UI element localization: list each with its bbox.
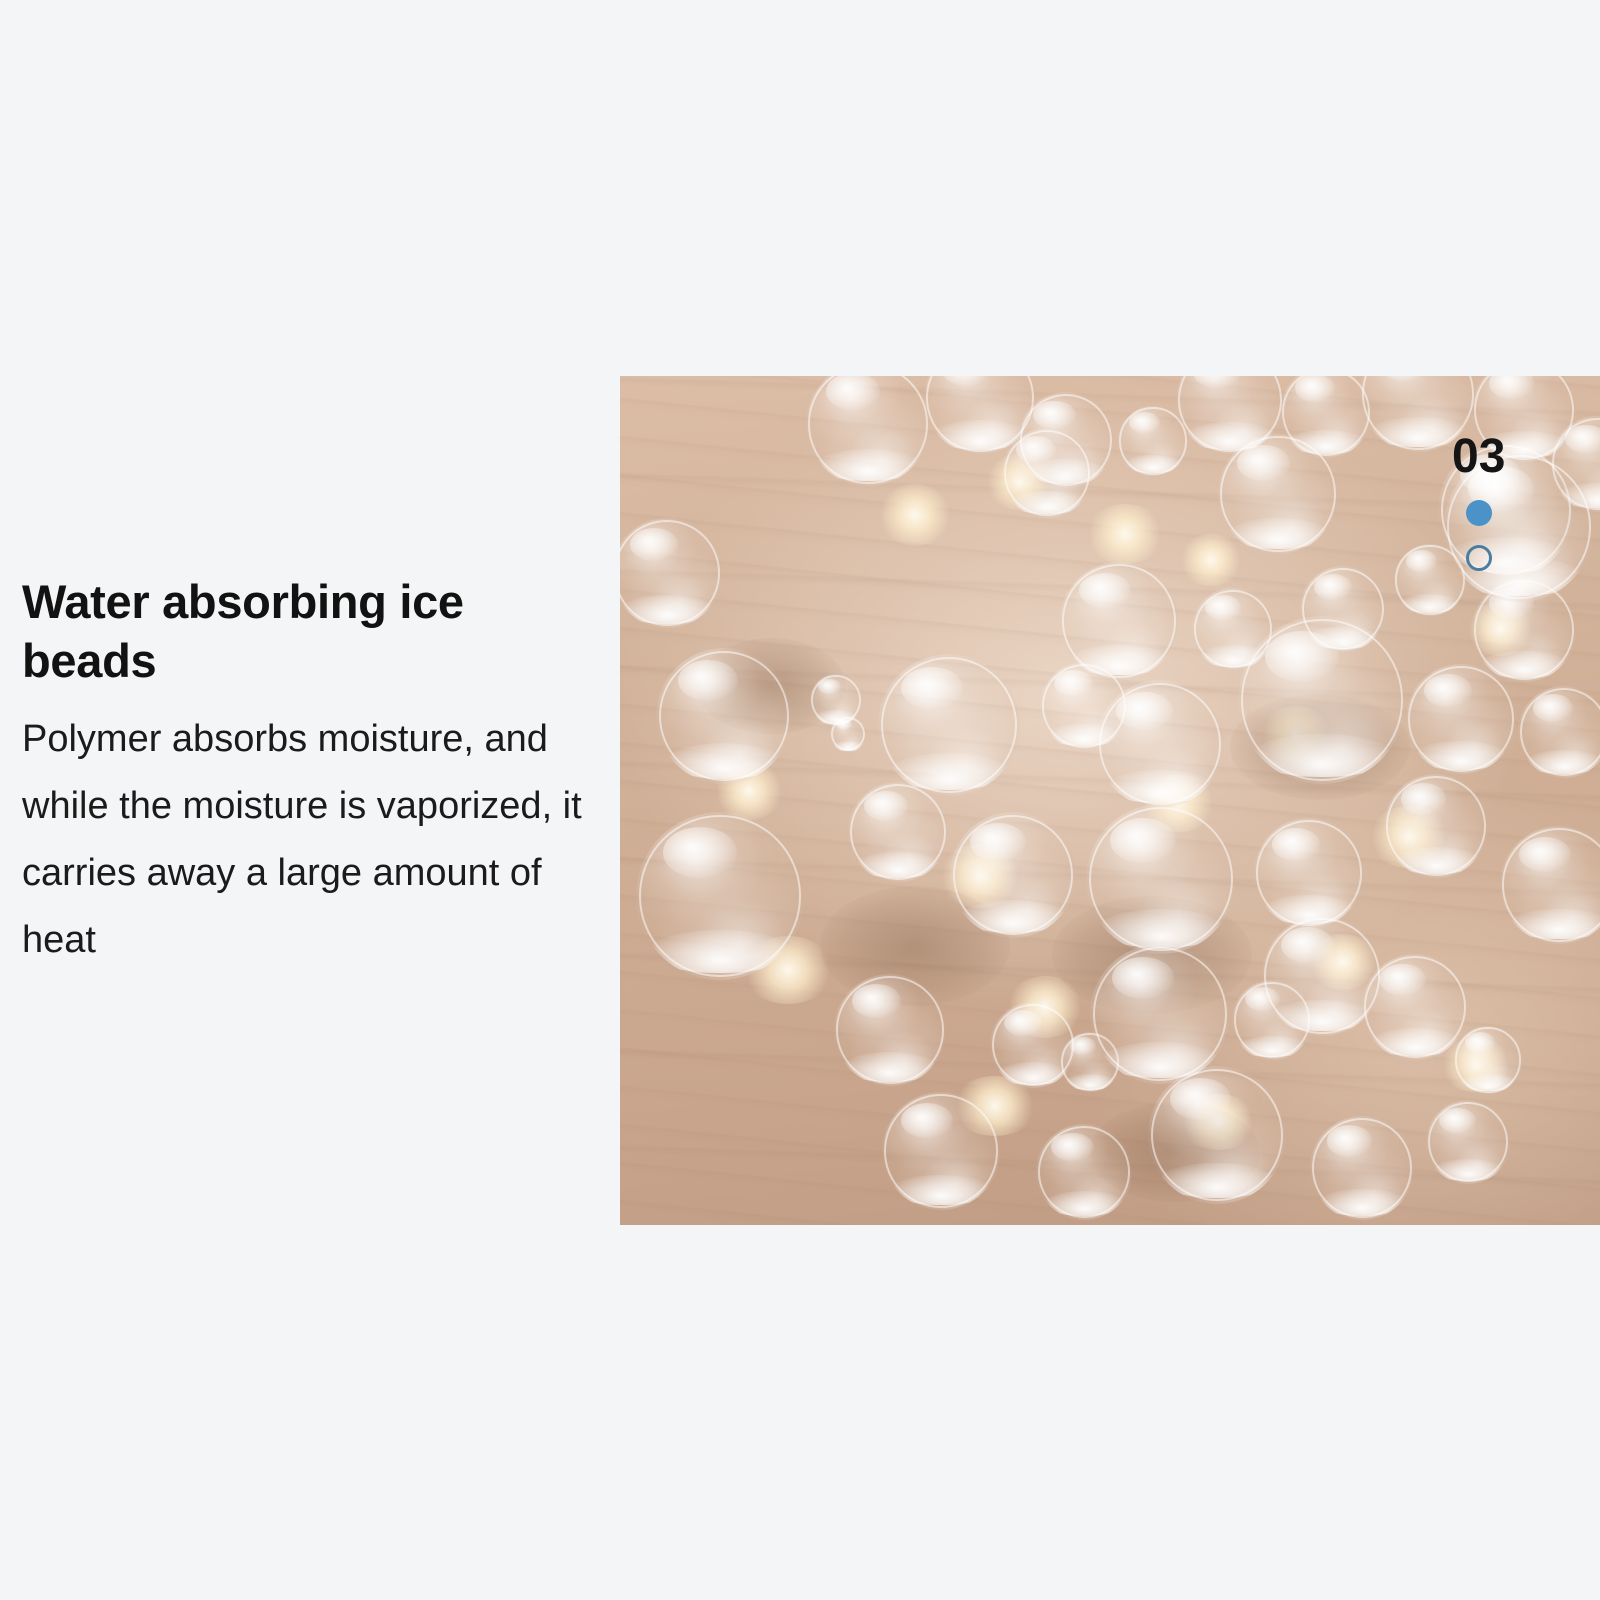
gel-bead xyxy=(882,1092,1000,1210)
gel-bead xyxy=(806,376,930,486)
gel-bead xyxy=(1518,686,1600,778)
gel-bead xyxy=(1238,616,1406,784)
step-number-badge: 03 xyxy=(1452,432,1505,482)
gel-bead xyxy=(1362,954,1468,1060)
gel-bead xyxy=(1254,818,1364,928)
gel-bead xyxy=(848,782,948,882)
gel-bead xyxy=(1036,1124,1132,1220)
gel-bead xyxy=(1086,804,1236,954)
gel-bead xyxy=(1454,1026,1522,1094)
gel-bead xyxy=(1384,774,1488,878)
gel-bead xyxy=(878,654,1020,796)
gel-bead xyxy=(1218,434,1338,554)
gel-bead xyxy=(1500,826,1600,944)
gel-bead xyxy=(834,974,946,1086)
page-root: Water absorbing ice beads Polymer absorb… xyxy=(0,0,1600,1600)
pagination-dot-active[interactable] xyxy=(1466,500,1492,526)
feature-description: Polymer absorbs moisture, and while the … xyxy=(22,690,610,974)
gel-bead xyxy=(1406,664,1516,774)
gel-bead xyxy=(1310,1116,1414,1220)
gel-bead xyxy=(1426,1100,1510,1184)
page-title: Water absorbing ice beads xyxy=(22,572,602,690)
feature-text-panel: Water absorbing ice beads Polymer absorb… xyxy=(22,572,614,974)
pagination-dot-inactive[interactable] xyxy=(1466,545,1492,571)
gel-bead xyxy=(636,812,804,980)
gel-bead xyxy=(1090,944,1230,1084)
gel-bead xyxy=(656,648,792,784)
gel-bead xyxy=(1148,1066,1286,1204)
gel-bead xyxy=(950,812,1076,938)
product-photo xyxy=(620,376,1600,1225)
gel-bead xyxy=(620,518,722,628)
gel-bead xyxy=(1002,428,1092,518)
gel-bead xyxy=(1118,406,1188,476)
gel-bead xyxy=(830,716,866,752)
gel-bead xyxy=(1096,680,1224,808)
